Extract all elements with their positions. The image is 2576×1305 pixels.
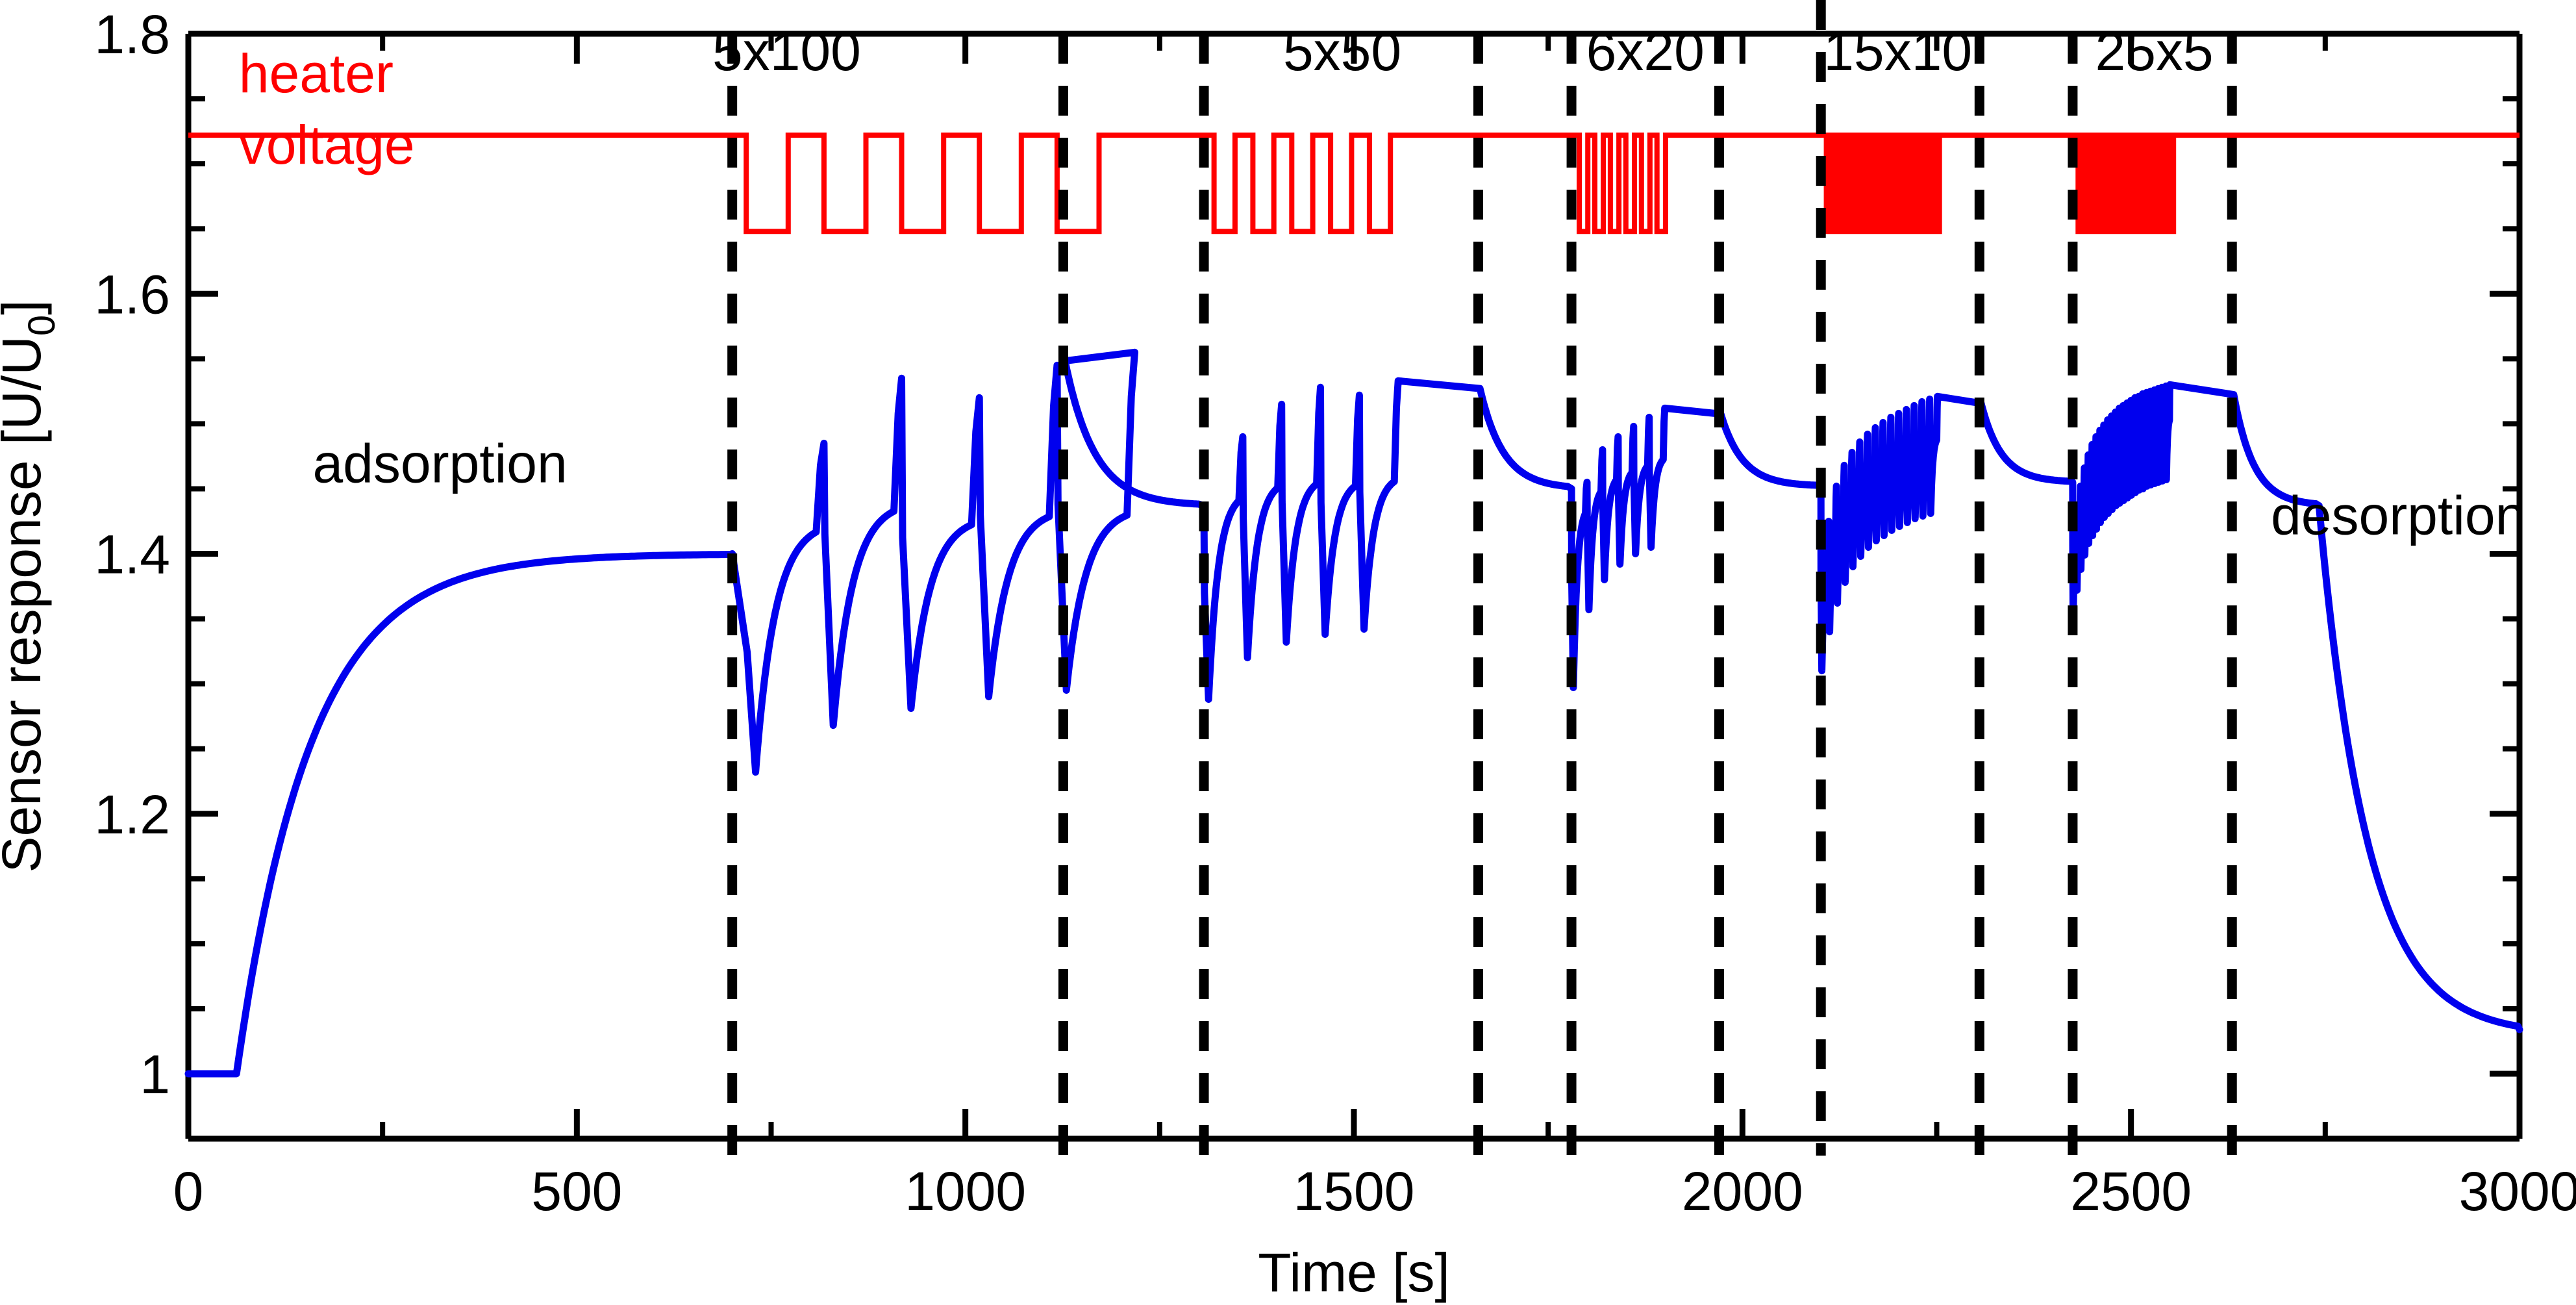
annotation-desorption: desorption [2271, 485, 2525, 546]
segment-label: 15x10 [1823, 21, 1972, 82]
x-tick-label: 2000 [1682, 1161, 1803, 1222]
y-tick-label: 1.4 [94, 524, 170, 585]
y-tick-label: 1 [140, 1044, 170, 1105]
annotation-heater: heater [239, 43, 394, 104]
x-tick-label: 500 [531, 1161, 622, 1222]
x-axis-title: Time [s] [1258, 1242, 1450, 1303]
chart-background [0, 0, 2576, 1305]
x-tick-label: 0 [173, 1161, 204, 1222]
sensor-response-figure: 11.21.41.61.8050010001500200025003000 5x… [0, 0, 2576, 1305]
segment-label: 5x50 [1283, 21, 1401, 82]
segment-label: 6x20 [1586, 21, 1705, 82]
x-tick-label: 3000 [2459, 1161, 2576, 1222]
annotation-adsorption: adsorption [312, 433, 567, 494]
chart-svg: 11.21.41.61.8050010001500200025003000 5x… [0, 0, 2576, 1305]
y-tick-label: 1.2 [94, 784, 170, 845]
segment-label: 5x100 [712, 21, 861, 82]
x-tick-label: 1000 [905, 1161, 1026, 1222]
y-tick-label: 1.8 [94, 4, 170, 65]
x-tick-label: 2500 [2070, 1161, 2192, 1222]
y-tick-label: 1.6 [94, 264, 170, 325]
annotation-voltage: voltage [239, 114, 415, 175]
segment-label: 25x5 [2095, 21, 2213, 82]
x-tick-label: 1500 [1294, 1161, 1415, 1222]
